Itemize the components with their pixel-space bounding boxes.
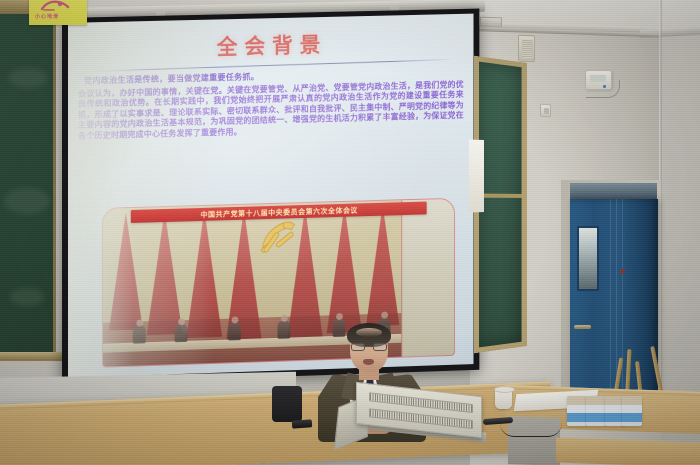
light-switch[interactable]: [540, 104, 551, 118]
lower-right-desk: [556, 437, 700, 465]
lens-right: [373, 343, 387, 351]
speaker-grille: [522, 40, 533, 58]
controller-led: [603, 85, 606, 88]
hall-delegate: [277, 321, 290, 339]
chalk-smudge: [8, 68, 48, 88]
door-handle[interactable]: [574, 325, 591, 329]
controller-display: [590, 75, 606, 82]
wall-warning-sign: 小心地滑: [29, 0, 87, 25]
wall-speaker: [518, 35, 535, 63]
door-marking: [620, 269, 625, 274]
water-bottle: [567, 396, 587, 426]
paper-cup: [495, 388, 512, 409]
party-emblem-icon: [254, 215, 305, 262]
screen-surface: 全会背景 党内政治生活是传统，要当做党建重要任务抓。 会议认为，办好中国的事情，…: [68, 14, 474, 378]
water-bottle: [622, 396, 642, 426]
mobile-phone: [292, 419, 313, 428]
chair-back: [272, 386, 302, 422]
door-vision-panel: [577, 226, 599, 291]
posted-paper: [469, 139, 484, 212]
lens-left: [351, 343, 365, 351]
slippery-floor-icon: [38, 0, 72, 12]
hall-delegate: [228, 322, 241, 340]
ac-controller[interactable]: [585, 70, 612, 90]
screen-glare: [68, 14, 207, 378]
water-bottle-pack: [567, 392, 645, 426]
desk-speaker-unit: [336, 389, 482, 441]
left-chalkboard: [0, 8, 56, 360]
door-panel-seam: [610, 199, 611, 420]
sign-text: 小心地滑: [35, 13, 59, 20]
room-photograph: 全会背景 党内政治生活是传统，要当做党建重要任务抓。 会议认为，办好中国的事情，…: [0, 0, 700, 465]
chalk-smudge: [10, 288, 44, 306]
microphone-cable: [500, 423, 562, 437]
mouth: [363, 359, 374, 365]
wall-vent: [480, 17, 502, 28]
water-bottle: [586, 396, 606, 426]
eyeglasses-icon: [351, 343, 387, 351]
chalk-smudge: [4, 188, 50, 214]
chalkboard-divider: [479, 193, 522, 197]
door-panel-seam: [622, 199, 623, 420]
glasses-bridge: [365, 346, 373, 347]
chalkboard-chalk-rail: [0, 352, 62, 361]
door-transom-window: [570, 183, 657, 199]
